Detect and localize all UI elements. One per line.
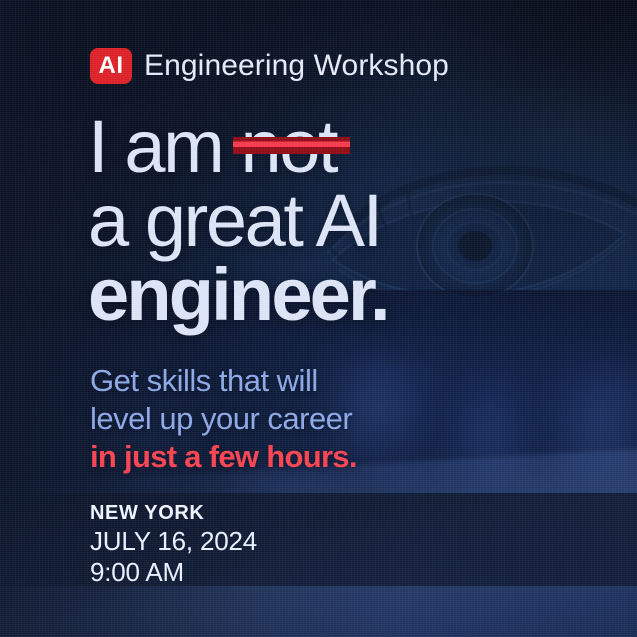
- headline-line-1: I am not: [88, 110, 608, 184]
- event-date: JULY 16, 2024: [90, 526, 257, 557]
- brand-title: Engineering Workshop: [144, 49, 449, 83]
- headline-struck-text: not: [240, 105, 336, 188]
- headline-line-1-prefix: I am: [88, 105, 240, 188]
- headline: I am not a great AI engineer.: [88, 110, 608, 332]
- event-info: NEW YORK JULY 16, 2024 9:00 AM: [90, 500, 257, 588]
- event-time: 9:00 AM: [90, 557, 257, 588]
- subheading-line-3-accent: in just a few hours.: [90, 438, 357, 476]
- brand-lockup: AI Engineering Workshop: [90, 48, 449, 84]
- subheading-line-2: level up your career: [90, 400, 357, 438]
- event-venue: NEW YORK: [90, 500, 257, 526]
- headline-line-3: engineer.: [88, 258, 608, 332]
- ai-badge-icon: AI: [90, 48, 132, 84]
- subheading-line-1: Get skills that will: [90, 362, 357, 400]
- headline-struck-word: not: [240, 110, 336, 184]
- promo-poster: AI Engineering Workshop I am not a great…: [0, 0, 637, 637]
- headline-line-2: a great AI: [88, 184, 608, 258]
- poster-content: AI Engineering Workshop I am not a great…: [0, 0, 637, 637]
- subheading: Get skills that will level up your caree…: [90, 362, 357, 476]
